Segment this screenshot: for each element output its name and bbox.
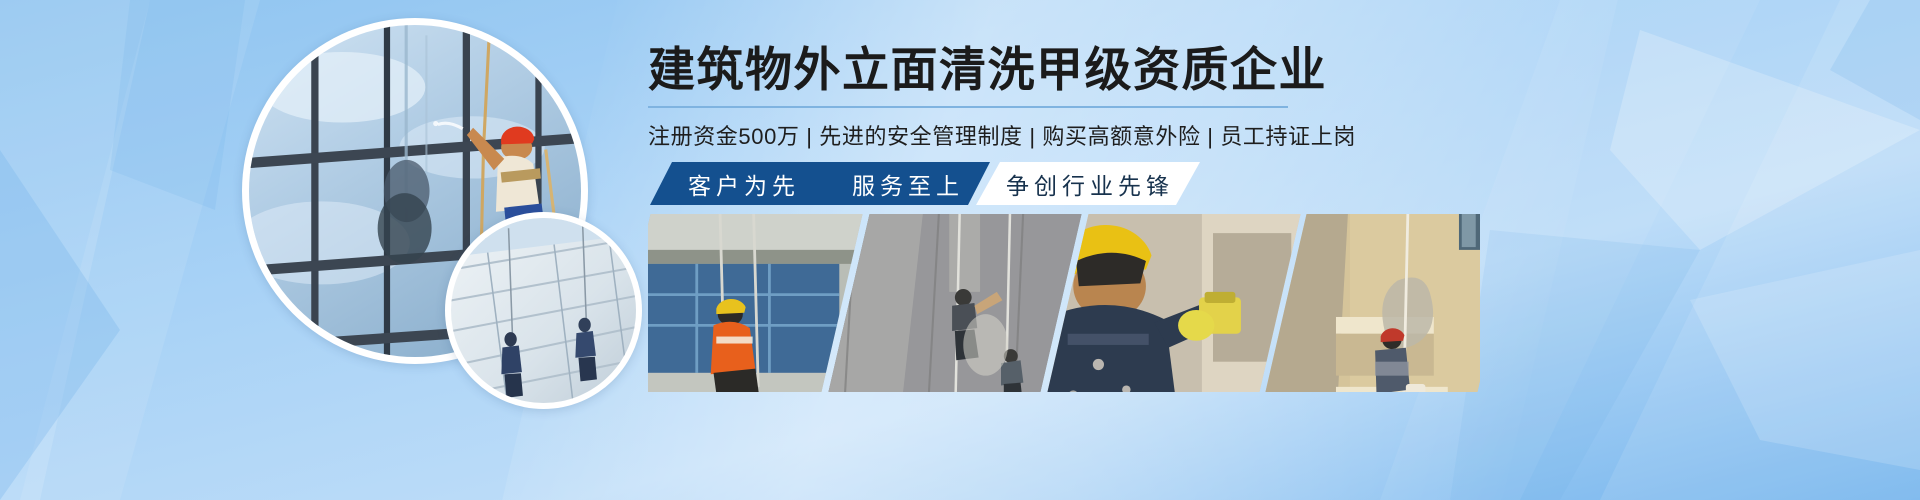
slogan-ribbon: 客户为先 服务至上 争创行业先锋 <box>650 162 1200 205</box>
slogan-item-1: 客户为先 <box>688 167 800 201</box>
promotional-banner: 建筑物外立面清洗甲级资质企业 注册资金500万 | 先进的安全管理制度 | 购买… <box>0 0 1920 500</box>
photo-strip-item-3 <box>1047 214 1300 392</box>
slogan-item-3: 争创行业先锋 <box>1006 167 1174 201</box>
photo-strip-item-2 <box>828 214 1081 392</box>
photo-circle-small-image <box>451 218 636 403</box>
slogan-dark-section: 客户为先 服务至上 <box>650 162 990 205</box>
photo-strip <box>648 214 1480 392</box>
page-title: 建筑物外立面清洗甲级资质企业 <box>648 44 1308 97</box>
subtitle-text: 注册资金500万 | 先进的安全管理制度 | 购买高额意外险 | 员工持证上岗 <box>648 119 1308 151</box>
slogan-item-2: 服务至上 <box>852 167 964 201</box>
photo-strip-item-4 <box>1266 214 1480 392</box>
slogan-light-section: 争创行业先锋 <box>976 162 1200 205</box>
photo-strip-item-1 <box>648 214 862 392</box>
headline-block: 建筑物外立面清洗甲级资质企业 注册资金500万 | 先进的安全管理制度 | 购买… <box>648 44 1308 151</box>
title-divider <box>648 106 1288 108</box>
photo-circle-small <box>445 212 642 409</box>
